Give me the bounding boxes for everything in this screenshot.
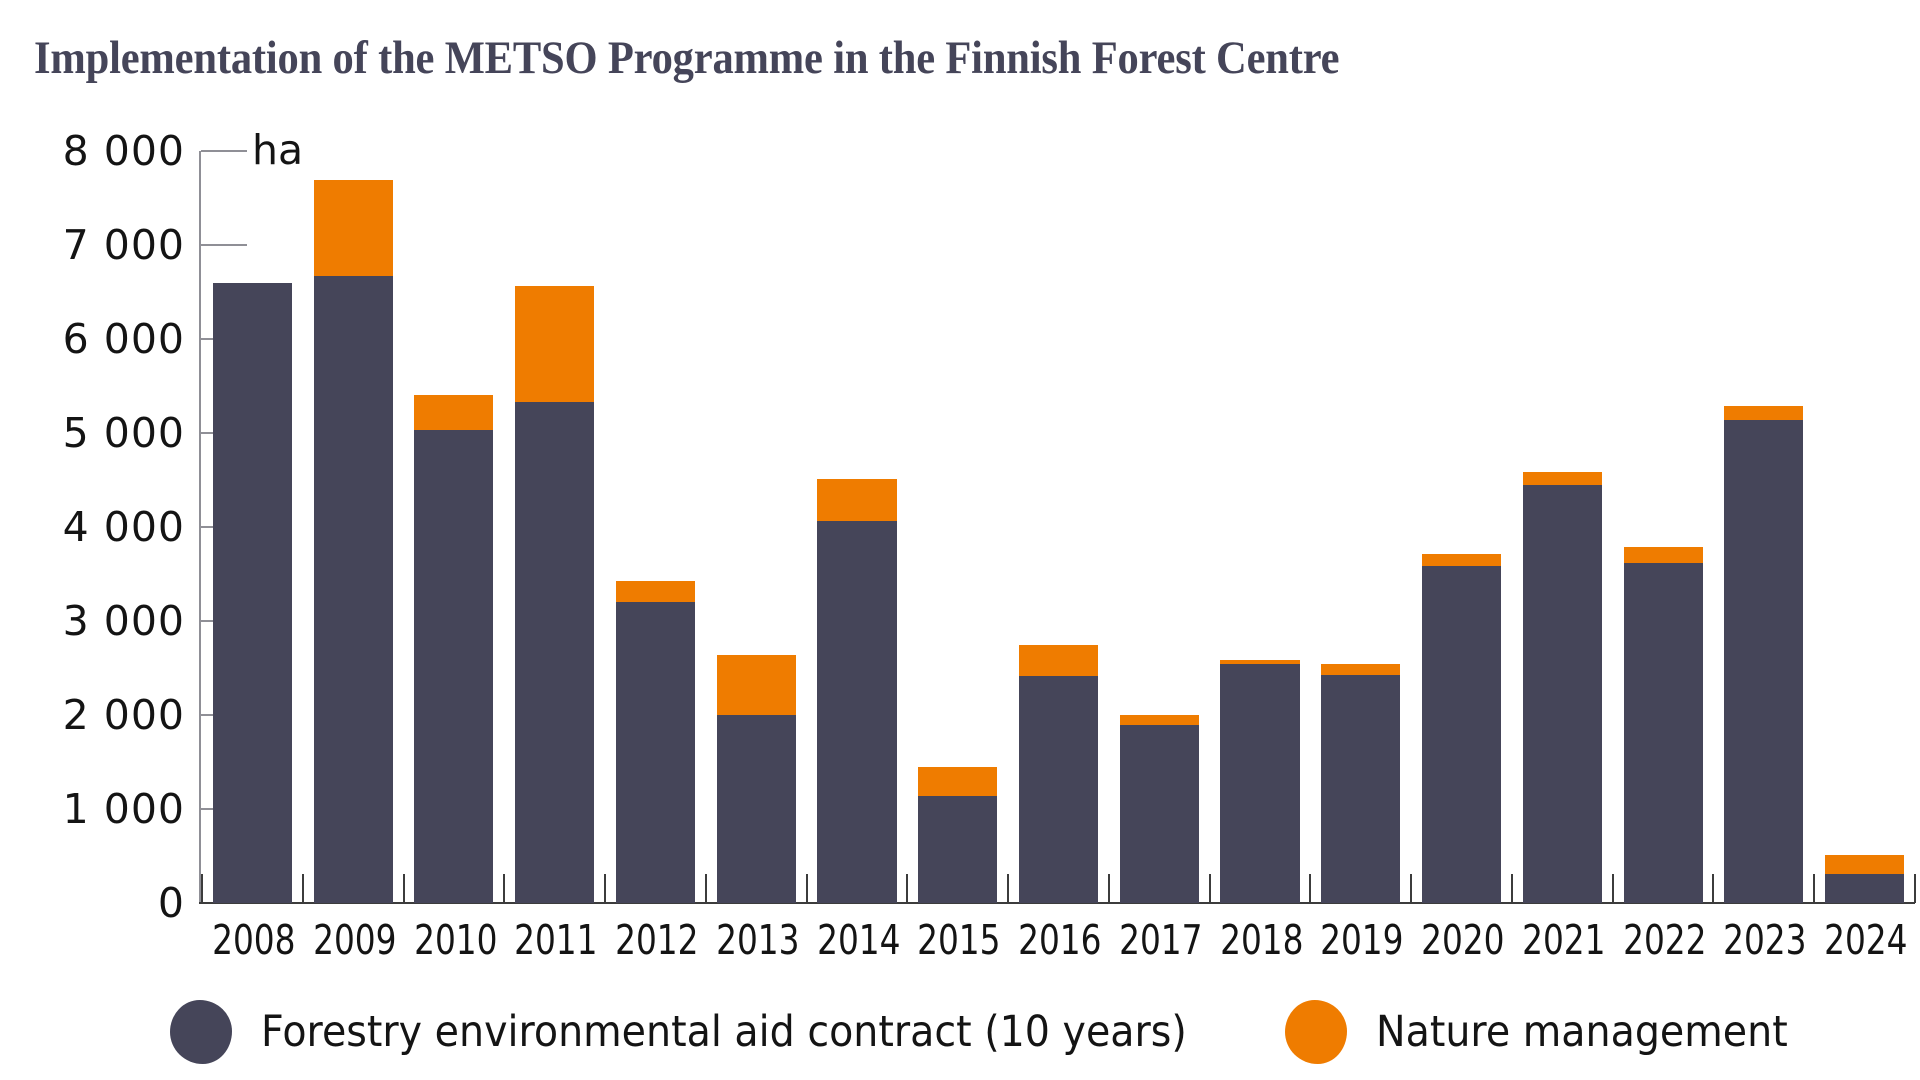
bar-segment-forestry-contract: [414, 430, 493, 903]
x-axis-tick: [1209, 874, 1211, 903]
x-axis-tick: [806, 874, 808, 903]
bar-2019: [1321, 664, 1400, 903]
x-axis-label-2021: 2021: [1522, 916, 1603, 964]
bar-segment-forestry-contract: [1422, 566, 1501, 903]
bar-segment-forestry-contract: [1825, 874, 1904, 903]
x-axis-label-2019: 2019: [1320, 916, 1401, 964]
y-axis-tick-label: 4 000: [63, 503, 185, 551]
y-axis-tick: [201, 244, 247, 246]
bar-2009: [314, 180, 393, 903]
x-axis-label-2016: 2016: [1018, 916, 1099, 964]
bar-segment-nature-management: [1120, 715, 1199, 725]
chart-legend: Forestry environmental aid contract (10 …: [0, 1000, 1920, 1080]
legend-swatch-icon: [170, 1000, 232, 1064]
y-axis-tick: [201, 150, 247, 152]
x-axis-tick: [1813, 874, 1815, 903]
bar-segment-nature-management: [314, 180, 393, 276]
x-axis-label-2008: 2008: [212, 916, 293, 964]
bar-segment-forestry-contract: [616, 602, 695, 903]
bar-segment-forestry-contract: [918, 796, 997, 903]
x-axis-tick: [1007, 874, 1009, 903]
y-axis-tick-label: 1 000: [63, 785, 185, 833]
bar-2017: [1120, 715, 1199, 903]
bar-segment-nature-management: [1624, 547, 1703, 563]
bar-2018: [1220, 660, 1299, 903]
y-axis-tick-label: 6 000: [63, 315, 185, 363]
x-axis-label-2022: 2022: [1623, 916, 1704, 964]
bar-segment-forestry-contract: [213, 283, 292, 903]
x-axis-tick: [1309, 874, 1311, 903]
y-axis-unit-label: ha: [252, 126, 303, 174]
x-axis-label-2010: 2010: [414, 916, 495, 964]
x-axis-label-2018: 2018: [1220, 916, 1301, 964]
bar-segment-nature-management: [1825, 855, 1904, 874]
x-axis-tick: [201, 874, 203, 903]
bar-2011: [515, 286, 594, 903]
chart-root: Implementation of the METSO Programme in…: [0, 0, 1920, 1080]
x-axis-tick: [604, 874, 606, 903]
legend-label: Forestry environmental aid contract (10 …: [261, 1007, 1187, 1057]
x-axis-tick: [1410, 874, 1412, 903]
bar-2020: [1422, 554, 1501, 903]
bar-segment-forestry-contract: [314, 276, 393, 903]
bar-segment-forestry-contract: [717, 715, 796, 903]
x-axis-label-2011: 2011: [514, 916, 595, 964]
bar-segment-nature-management: [918, 767, 997, 796]
x-axis-label-2009: 2009: [313, 916, 394, 964]
plot-area: ha 01 0002 0003 0004 0005 0006 0007 0008…: [0, 0, 1920, 1080]
bar-segment-nature-management: [717, 655, 796, 715]
x-axis-tick: [503, 874, 505, 903]
bar-segment-forestry-contract: [515, 402, 594, 903]
bar-2010: [414, 395, 493, 903]
bar-segment-nature-management: [817, 479, 896, 521]
bar-segment-forestry-contract: [1523, 485, 1602, 903]
x-axis-tick: [1914, 874, 1916, 903]
bar-2013: [717, 655, 796, 903]
bar-segment-forestry-contract: [1321, 675, 1400, 903]
bar-segment-nature-management: [1019, 645, 1098, 675]
x-axis-label-2015: 2015: [917, 916, 998, 964]
bar-segment-nature-management: [616, 581, 695, 603]
bar-2022: [1624, 547, 1703, 903]
bar-segment-forestry-contract: [1120, 725, 1199, 903]
bar-segment-nature-management: [515, 286, 594, 402]
bar-2014: [817, 479, 896, 903]
x-axis-label-2013: 2013: [716, 916, 797, 964]
bar-segment-nature-management: [1523, 472, 1602, 484]
x-axis-tick: [1511, 874, 1513, 903]
x-axis-tick: [705, 874, 707, 903]
x-axis-label-2017: 2017: [1119, 916, 1200, 964]
legend-item-nature-management[interactable]: Nature management: [1285, 1000, 1824, 1064]
bar-segment-forestry-contract: [817, 521, 896, 903]
bar-2015: [918, 767, 997, 903]
bar-segment-nature-management: [1321, 664, 1400, 674]
bar-segment-forestry-contract: [1019, 676, 1098, 903]
y-axis-tick-label: 7 000: [63, 221, 185, 269]
bar-segment-nature-management: [1724, 406, 1803, 420]
bar-2008: [213, 283, 292, 903]
y-axis-tick-label: 3 000: [63, 597, 185, 645]
x-axis-tick: [403, 874, 405, 903]
legend-label: Nature management: [1376, 1007, 1788, 1057]
x-axis-tick: [1712, 874, 1714, 903]
x-axis-label-2023: 2023: [1724, 916, 1805, 964]
bar-segment-forestry-contract: [1220, 664, 1299, 903]
x-axis-tick: [1108, 874, 1110, 903]
y-axis-tick-label: 2 000: [63, 691, 185, 739]
x-axis-label-2020: 2020: [1421, 916, 1502, 964]
bar-segment-nature-management: [1422, 554, 1501, 566]
bar-2012: [616, 581, 695, 903]
y-axis-tick-label: 8 000: [63, 127, 185, 175]
x-axis-label-2014: 2014: [817, 916, 898, 964]
y-axis-tick-label: 0: [158, 879, 185, 927]
bar-segment-nature-management: [1220, 660, 1299, 665]
x-axis-tick: [302, 874, 304, 903]
bar-2023: [1724, 406, 1803, 903]
bar-2024: [1825, 855, 1904, 903]
bar-segment-forestry-contract: [1724, 420, 1803, 903]
x-axis-label-2024: 2024: [1824, 916, 1905, 964]
bar-2021: [1523, 472, 1602, 903]
x-axis-tick: [906, 874, 908, 903]
x-axis-label-2012: 2012: [615, 916, 696, 964]
legend-item-forestry-contract[interactable]: Forestry environmental aid contract (10 …: [170, 1000, 1267, 1064]
y-axis-tick-label: 5 000: [63, 409, 185, 457]
x-axis-tick: [1612, 874, 1614, 903]
bar-segment-forestry-contract: [1624, 563, 1703, 903]
legend-swatch-icon: [1285, 1000, 1347, 1064]
bar-2016: [1019, 645, 1098, 903]
bar-segment-nature-management: [414, 395, 493, 430]
